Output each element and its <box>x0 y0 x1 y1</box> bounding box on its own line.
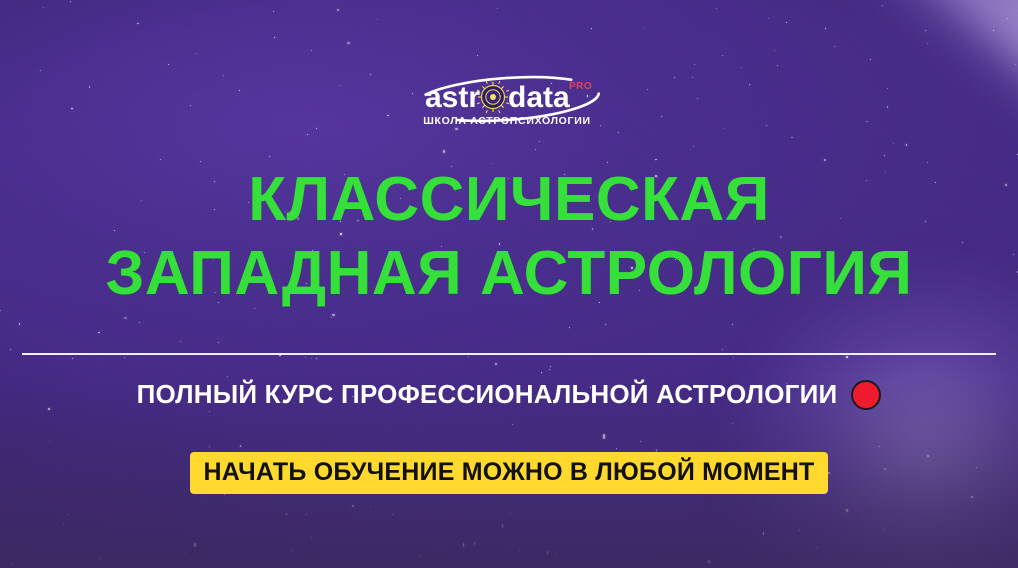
red-circle-icon <box>851 380 881 410</box>
headline-line-2: ЗАПАДНАЯ АСТРОЛОГИЯ <box>0 237 1018 311</box>
logo-wordmark-part2: data <box>508 81 570 114</box>
status-badge: НАЧАТЬ ОБУЧЕНИЕ МОЖНО В ЛЮБОЙ МОМЕНТ <box>190 452 829 494</box>
logo-tagline: ШКОЛА АСТРОПСИХОЛОГИИ <box>423 115 590 127</box>
astrodata-logo[interactable]: astr <box>411 74 607 130</box>
horizontal-divider <box>22 353 996 355</box>
page-title: КЛАССИЧЕСКАЯ ЗАПАДНАЯ АСТРОЛОГИЯ <box>0 163 1018 311</box>
logo-container[interactable]: astr <box>0 74 1018 130</box>
logo-pro-superscript: PRO <box>569 81 592 92</box>
logo-wordmark-part1: astr <box>425 81 480 114</box>
subtitle-text: ПОЛНЫЙ КУРС ПРОФЕССИОНАЛЬНОЙ АСТРОЛОГИИ <box>137 379 838 410</box>
subtitle: ПОЛНЫЙ КУРС ПРОФЕССИОНАЛЬНОЙ АСТРОЛОГИИ <box>0 379 1018 410</box>
astrology-course-hero-banner: astr <box>0 0 1018 568</box>
headline-line-1: КЛАССИЧЕСКАЯ <box>248 165 770 234</box>
highlight-container: НАЧАТЬ ОБУЧЕНИЕ МОЖНО В ЛЮБОЙ МОМЕНТ <box>0 452 1018 494</box>
sun-zodiac-wheel-icon <box>477 81 509 113</box>
